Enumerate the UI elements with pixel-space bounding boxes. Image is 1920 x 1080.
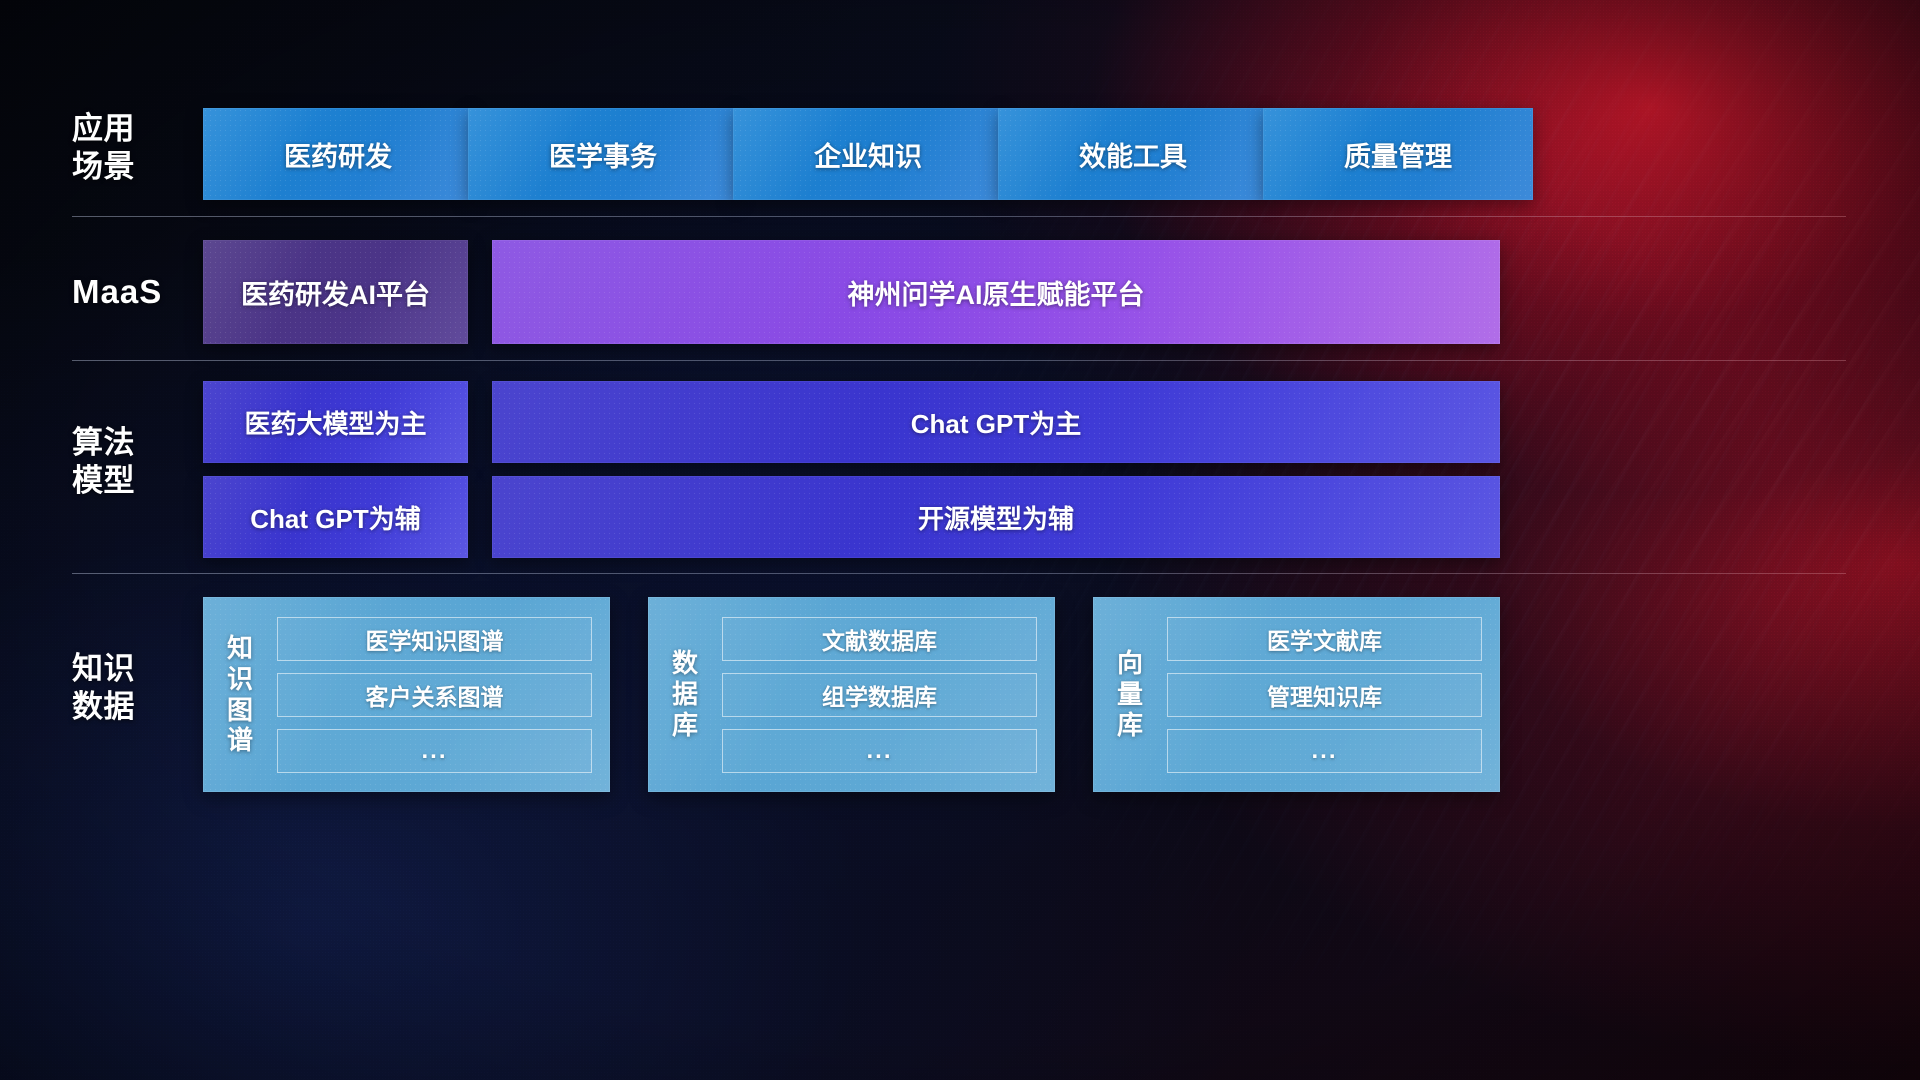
group-title-line: 识 [203, 664, 277, 695]
knowledge-item[interactable]: 医学文献库 [1167, 617, 1482, 661]
knowledge-item[interactable]: 医学知识图谱 [277, 617, 592, 661]
group-title-line: 数 [648, 648, 722, 679]
knowledge-item-more[interactable]: ... [277, 729, 592, 773]
knowledge-item-more[interactable]: ... [722, 729, 1037, 773]
row-label-line: 算法 [72, 424, 222, 462]
app-cell-quality-management[interactable]: 质量管理 [1263, 108, 1533, 200]
app-cell-medical-affairs[interactable]: 医学事务 [468, 108, 738, 200]
algo-cell-label: 开源模型为辅 [918, 499, 1074, 536]
group-title-line: 向 [1093, 648, 1167, 679]
algo-cell-label: Chat GPT为主 [911, 404, 1081, 441]
architecture-diagram: 应用 场景 医药研发 医学事务 企业知识 效能工具 质量管理 MaaS [0, 0, 1920, 1080]
group-title-line: 知 [203, 633, 277, 664]
knowledge-item[interactable]: 管理知识库 [1167, 673, 1482, 717]
app-cell-label: 质量管理 [1344, 135, 1452, 174]
algo-cell-label: Chat GPT为辅 [250, 499, 420, 536]
row-label-algorithm-models: 算法 模型 [72, 424, 222, 500]
row-label-application-scenarios: 应用 场景 [72, 110, 222, 186]
app-cell-label: 企业知识 [814, 135, 922, 174]
knowledge-group-vector-store[interactable]: 向 量 库 医学文献库 管理知识库 ... [1093, 597, 1500, 792]
row-label-line: MaaS [72, 272, 222, 312]
knowledge-item[interactable]: 组学数据库 [722, 673, 1037, 717]
algo-cell-label: 医药大模型为主 [244, 404, 426, 441]
maas-cell-shenzhou-wenxue-platform[interactable]: 神州问学AI原生赋能平台 [492, 240, 1500, 344]
group-title-line: 库 [648, 710, 722, 741]
maas-cell-label: 医药研发AI平台 [241, 273, 430, 312]
row-label-line: 知识 [72, 650, 222, 688]
algo-cell-pharma-llm-primary[interactable]: 医药大模型为主 [203, 381, 468, 463]
algo-cell-chatgpt-primary[interactable]: Chat GPT为主 [492, 381, 1500, 463]
row-divider-2 [72, 360, 1846, 361]
app-cell-label: 医药研发 [284, 135, 392, 174]
knowledge-group-knowledge-graph[interactable]: 知 识 图 谱 医学知识图谱 客户关系图谱 ... [203, 597, 610, 792]
app-cell-pharma-rnd[interactable]: 医药研发 [203, 108, 473, 200]
group-title-line: 谱 [203, 725, 277, 756]
row-label-line: 模型 [72, 462, 222, 500]
knowledge-group-items: 文献数据库 组学数据库 ... [722, 617, 1055, 773]
group-title-line: 库 [1093, 710, 1167, 741]
knowledge-group-title: 知 识 图 谱 [203, 633, 277, 756]
knowledge-group-items: 医学文献库 管理知识库 ... [1167, 617, 1500, 773]
slide-canvas: 应用 场景 医药研发 医学事务 企业知识 效能工具 质量管理 MaaS [0, 0, 1920, 1080]
app-cell-efficiency-tools[interactable]: 效能工具 [998, 108, 1268, 200]
app-cell-label: 医学事务 [549, 135, 657, 174]
row-label-line: 应用 [72, 110, 222, 148]
group-title-line: 图 [203, 695, 277, 726]
knowledge-group-database[interactable]: 数 据 库 文献数据库 组学数据库 ... [648, 597, 1055, 792]
algo-cell-chatgpt-secondary[interactable]: Chat GPT为辅 [203, 476, 468, 558]
knowledge-item-more[interactable]: ... [1167, 729, 1482, 773]
row-label-maas: MaaS [72, 272, 222, 312]
group-title-line: 据 [648, 679, 722, 710]
knowledge-group-title: 向 量 库 [1093, 648, 1167, 740]
row-label-line: 场景 [72, 148, 222, 186]
row-label-line: 数据 [72, 688, 222, 726]
row-divider-3 [72, 573, 1846, 574]
knowledge-item[interactable]: 客户关系图谱 [277, 673, 592, 717]
maas-cell-pharma-ai-platform[interactable]: 医药研发AI平台 [203, 240, 468, 344]
algo-cell-opensource-secondary[interactable]: 开源模型为辅 [492, 476, 1500, 558]
maas-cell-label: 神州问学AI原生赋能平台 [848, 273, 1145, 312]
row-divider-1 [72, 216, 1846, 217]
app-cell-enterprise-knowledge[interactable]: 企业知识 [733, 108, 1003, 200]
row-label-knowledge-data: 知识 数据 [72, 650, 222, 726]
group-title-line: 量 [1093, 679, 1167, 710]
knowledge-item[interactable]: 文献数据库 [722, 617, 1037, 661]
app-cell-label: 效能工具 [1079, 135, 1187, 174]
knowledge-group-items: 医学知识图谱 客户关系图谱 ... [277, 617, 610, 773]
knowledge-group-title: 数 据 库 [648, 648, 722, 740]
